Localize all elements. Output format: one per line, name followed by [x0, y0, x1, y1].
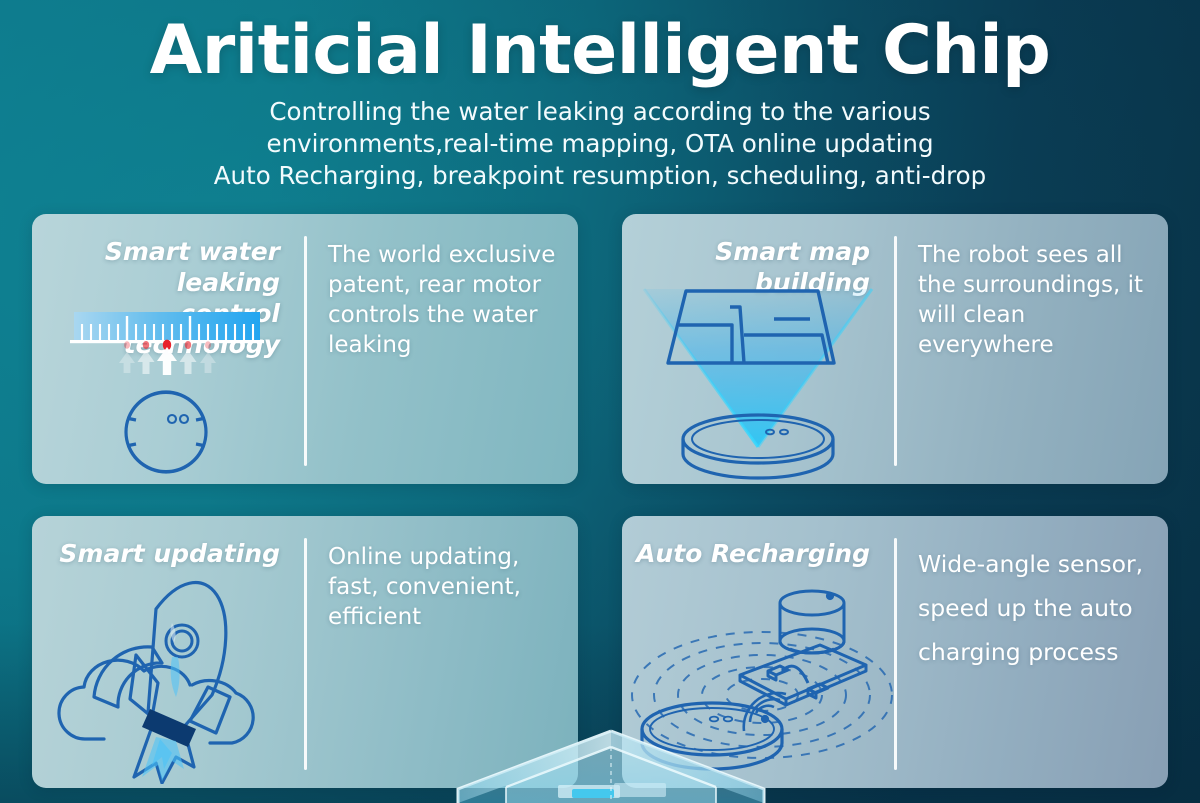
- card-1-title-line-1: Smart water leaking: [105, 237, 280, 297]
- infographic-root: Ariticial Intelligent Chip Controlling t…: [0, 0, 1200, 803]
- feature-card-auto-recharging[interactable]: Auto Recharging: [622, 516, 1168, 788]
- feature-card-smart-updating[interactable]: Smart updating: [32, 516, 578, 788]
- card-3-title-line-1: Smart updating: [59, 539, 280, 568]
- signal-rings: [632, 632, 892, 758]
- card-4-description: Wide-angle sensor, speed up the auto cha…: [918, 542, 1152, 674]
- rocket-fin-right: [190, 687, 230, 733]
- card-2-icon-wrap: [622, 275, 894, 484]
- card-1-left-column: Smart water leaking control technology: [32, 214, 304, 484]
- page-title: Ariticial Intelligent Chip: [0, 0, 1200, 90]
- card-2-description: The robot sees all the surroundings, it …: [918, 240, 1152, 360]
- feature-card-smart-water-leaking[interactable]: Smart water leaking control technology: [32, 214, 578, 484]
- card-1-icon-wrap: [32, 290, 304, 484]
- page-subtitle: Controlling the water leaking according …: [0, 90, 1200, 192]
- card-1-right-column: The world exclusive patent, rear motor c…: [304, 214, 578, 484]
- robot-vacuum-topview-icon: [126, 392, 206, 472]
- card-3-right-column: Online updating, fast, convenient, effic…: [304, 516, 578, 788]
- scan-cone: [644, 289, 872, 447]
- card-2-right-column: The robot sees all the surroundings, it …: [894, 214, 1168, 484]
- header: Ariticial Intelligent Chip Controlling t…: [0, 0, 1200, 192]
- card-4-title: Auto Recharging: [622, 538, 878, 569]
- card-4-title-line-1: Auto Recharging: [636, 539, 870, 568]
- card-2-left-column: Smart map building: [622, 214, 894, 484]
- card-4-left-column: Auto Recharging: [622, 516, 894, 788]
- card-4-right-column: Wide-angle sensor, speed up the auto cha…: [894, 516, 1168, 788]
- card-1-description: The world exclusive patent, rear motor c…: [328, 240, 562, 360]
- card-3-title: Smart updating: [32, 538, 288, 569]
- rocket-flame: [142, 737, 184, 781]
- feature-card-smart-map-building[interactable]: Smart map building: [622, 214, 1168, 484]
- card-3-left-column: Smart updating: [32, 516, 304, 788]
- card-3-icon-wrap: [32, 579, 304, 788]
- card-4-icon-wrap: [622, 579, 894, 788]
- level-arrows: [119, 347, 216, 375]
- water-leak-scale-icon: [32, 290, 304, 480]
- subtitle-line-2: environments,real-time mapping, OTA onli…: [0, 128, 1200, 160]
- feature-card-grid: Smart water leaking control technology: [32, 214, 1168, 788]
- card-3-description: Online updating, fast, convenient, effic…: [328, 542, 562, 632]
- rocket-cloud-icon: [32, 579, 304, 784]
- subtitle-line-1: Controlling the water leaking according …: [0, 96, 1200, 128]
- map-scan-cone-icon: [622, 275, 894, 480]
- subtitle-line-3: Auto Recharging, breakpoint resumption, …: [0, 160, 1200, 192]
- charging-dock-signal-icon: [622, 579, 894, 784]
